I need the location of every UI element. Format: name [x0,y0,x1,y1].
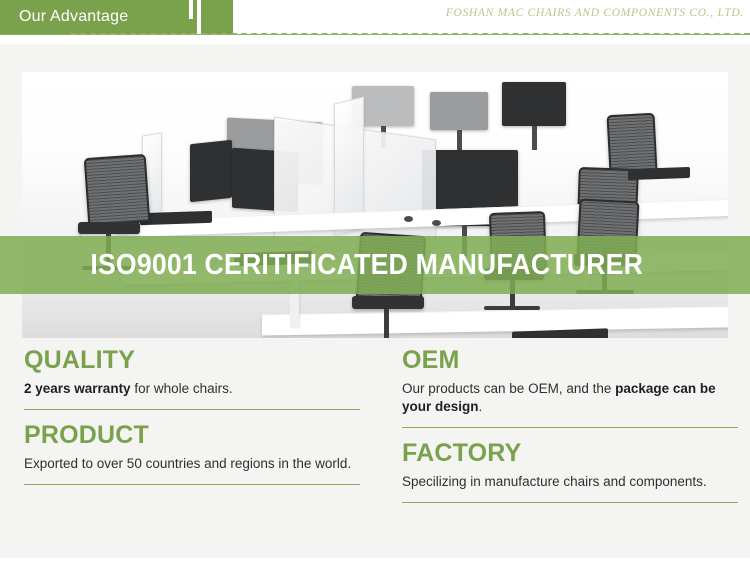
feature-divider [402,502,738,503]
monitor-icon [190,140,232,202]
feature-gap [402,428,738,438]
chair-icon [607,113,658,173]
feature-title: OEM [402,345,738,375]
feature-text: Specilizing in manufacture chairs and co… [402,473,738,491]
feature-text-bold: 2 years warranty [24,381,131,396]
monitor-icon [430,92,488,130]
feature-text: 2 years warranty for whole chairs. [24,380,360,398]
feature-product: PRODUCT Exported to over 50 countries an… [24,420,360,485]
feature-text: Exported to over 50 countries and region… [24,455,360,473]
chair-base [484,306,540,310]
monitor-stand [532,126,537,150]
feature-title: FACTORY [402,438,738,468]
feature-text-rest: for whole chairs. [131,381,233,396]
company-name: FOSHAN MAC CHAIRS AND COMPONENTS CO., LT… [446,7,744,19]
feature-factory: FACTORY Specilizing in manufacture chair… [402,438,738,503]
chair-seat [78,222,140,234]
mouse-icon [432,220,441,226]
content-panel: ISO9001 CERITIFICATED MANUFACTURER QUALI… [0,44,750,558]
feature-title: QUALITY [24,345,360,375]
header-divider-bar-short [189,0,193,19]
feature-divider [24,409,360,410]
page-header: Our Advantage FOSHAN MAC CHAIRS AND COMP… [0,0,750,44]
iso-banner-text: ISO9001 CERITIFICATED MANUFACTURER [30,249,720,282]
monitor-stand [457,130,462,150]
features-grid: QUALITY 2 years warranty for whole chair… [0,345,750,558]
feature-gap [24,410,360,420]
chair-seat [352,296,424,309]
feature-oem: OEM Our products can be OEM, and the pac… [402,345,738,428]
features-column-right: OEM Our products can be OEM, and the pac… [402,345,738,503]
feature-quality: QUALITY 2 years warranty for whole chair… [24,345,360,410]
feature-title: PRODUCT [24,420,360,450]
hero-photo [22,72,728,338]
keyboard-icon [140,211,212,226]
advantage-page: Our Advantage FOSHAN MAC CHAIRS AND COMP… [0,0,750,568]
office-workstation-photo [22,72,728,338]
feature-divider [402,427,738,428]
monitor-icon [502,82,566,126]
chair-post [384,309,389,338]
chair-icon [84,154,151,226]
feature-text-tail: . [479,399,483,414]
feature-divider [24,484,360,485]
keyboard-icon [628,167,690,180]
feature-text: Our products can be OEM, and the package… [402,380,738,416]
header-rule-mask [70,35,750,38]
mouse-icon [404,216,413,222]
feature-text-rest: Our products can be OEM, and the [402,381,615,396]
page-title: Our Advantage [19,4,128,30]
features-column-left: QUALITY 2 years warranty for whole chair… [24,345,360,485]
iso-banner: ISO9001 CERITIFICATED MANUFACTURER [0,236,750,294]
